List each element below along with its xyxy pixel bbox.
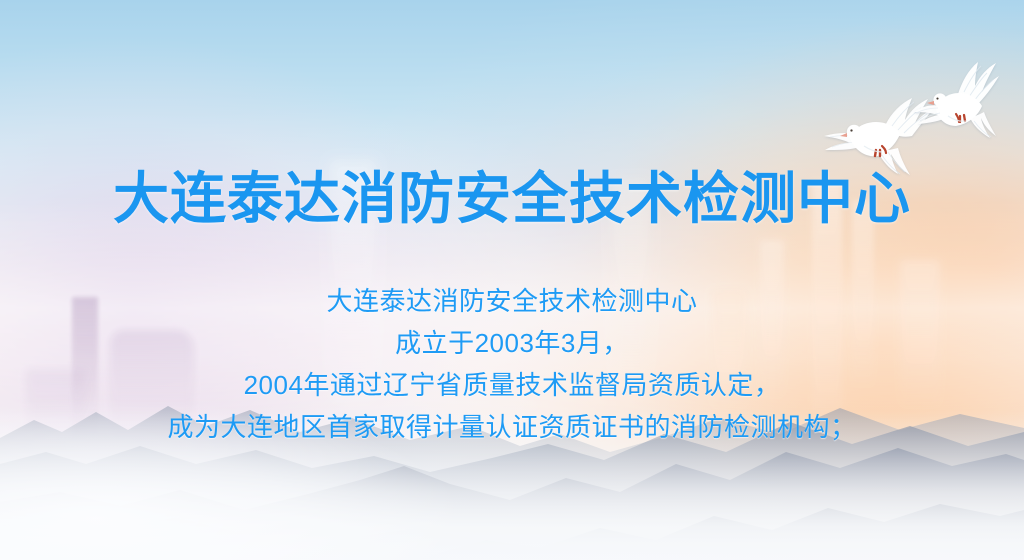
description-paragraph: 大连泰达消防安全技术检测中心 成立于2003年3月， 2004年通过辽宁省质量技… [0, 280, 1024, 448]
page-title: 大连泰达消防安全技术检测中心 [0, 168, 1024, 230]
description-line: 成立于2003年3月， [0, 322, 1024, 364]
dove-icon [912, 58, 1012, 142]
hero-banner: 大连泰达消防安全技术检测中心 大连泰达消防安全技术检测中心 成立于2003年3月… [0, 0, 1024, 560]
description-line: 大连泰达消防安全技术检测中心 [0, 280, 1024, 322]
description-line: 成为大连地区首家取得计量认证资质证书的消防检测机构； [0, 406, 1024, 448]
description-line: 2004年通过辽宁省质量技术监督局资质认定， [0, 364, 1024, 406]
